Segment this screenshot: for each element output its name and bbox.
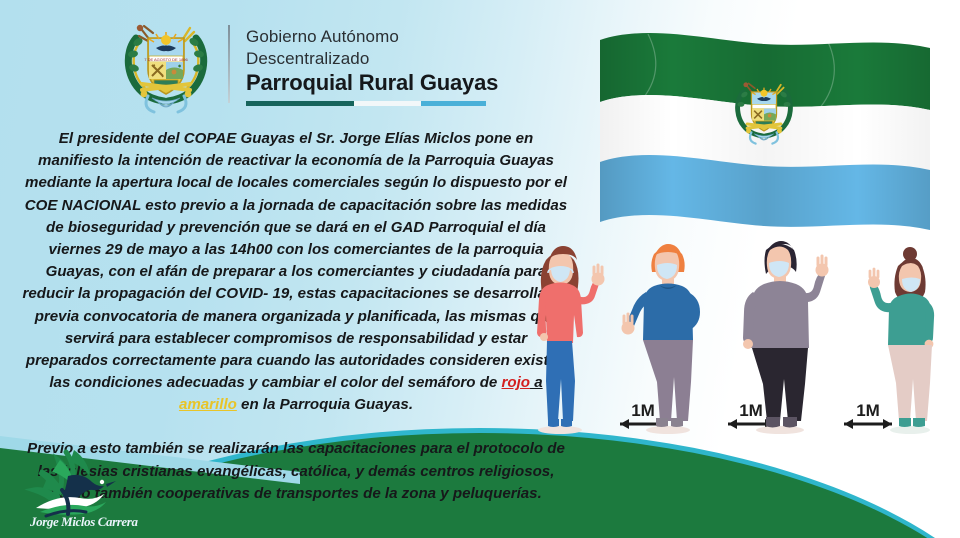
header-line-1: Gobierno Autónomo <box>246 26 498 48</box>
header: 7 DE AGOSTO DE 1896 <box>118 12 498 116</box>
distance-label-3: 1M <box>856 401 880 420</box>
paragraph-1-part-1: El presidente del COPAE Guayas el Sr. Jo… <box>23 130 570 391</box>
person-1 <box>537 246 605 434</box>
poster-canvas: 7 DE AGOSTO DE 1896 <box>0 0 960 538</box>
paragraph-1-part-2: en la Parroquia Guayas. <box>237 396 413 413</box>
waving-flag-icon <box>578 18 950 236</box>
distance-label-1: 1M <box>631 401 655 420</box>
social-distancing-illustration: 1M <box>528 238 960 440</box>
paragraph-1: El presidente del COPAE Guayas el Sr. Jo… <box>22 128 570 416</box>
header-bar-blue <box>421 101 486 106</box>
distance-marker-3: 1M <box>844 401 892 429</box>
distance-label-2: 1M <box>739 401 763 420</box>
coat-of-arms-icon: 7 DE AGOSTO DE 1896 <box>118 12 214 116</box>
signature-text: Jorge Miclos Carrera <box>29 514 138 529</box>
header-title-block: Gobierno Autónomo Descentralizado Parroq… <box>246 22 498 106</box>
highlight-rojo: rojo <box>502 374 531 391</box>
svg-text:7 DE AGOSTO DE 1896: 7 DE AGOSTO DE 1896 <box>144 57 188 62</box>
header-divider <box>228 25 230 103</box>
header-bar-white <box>354 101 421 106</box>
header-bar-green <box>246 101 354 106</box>
header-line-2: Descentralizado <box>246 48 498 70</box>
highlight-amarillo: amarillo <box>179 396 237 413</box>
header-underline-bars <box>246 101 486 106</box>
header-line-3: Parroquial Rural Guayas <box>246 70 498 96</box>
bird-signature-logo: Jorge Miclos Carrera <box>22 446 148 530</box>
